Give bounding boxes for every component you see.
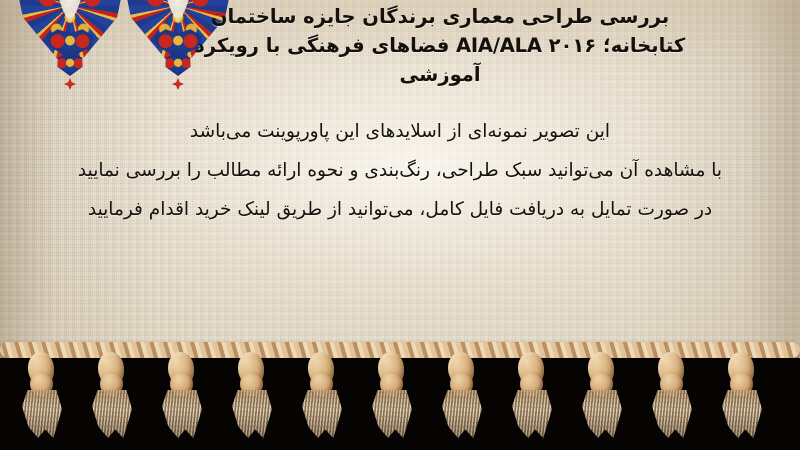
tassel [646, 344, 698, 440]
tassel [296, 344, 348, 440]
slide-title-line-2: کتابخانه؛ ۲۰۱۶ AIA/ALA فضاهای فرهنگی با … [190, 31, 690, 60]
tassel [86, 344, 138, 440]
slide-title-line-1: بررسی طراحی معماری برندگان جایزه ساختمان [190, 2, 690, 31]
tassel [436, 344, 488, 440]
tassel [16, 344, 68, 440]
slide-title: بررسی طراحی معماری برندگان جایزه ساختمان… [190, 2, 690, 89]
text-layer: بررسی طراحی معماری برندگان جایزه ساختمان… [0, 0, 800, 392]
slide-title-line-3: آموزشی [190, 60, 690, 89]
tassel [366, 344, 418, 440]
tassel-fringe [0, 340, 800, 450]
body-line-2: با مشاهده آن می‌توانید سبک طراحی، رنگ‌بن… [40, 151, 760, 190]
slide-body: این تصویر نمونه‌ای از اسلایدهای این پاور… [40, 112, 760, 229]
body-line-1: این تصویر نمونه‌ای از اسلایدهای این پاور… [40, 112, 760, 151]
tassel [716, 344, 768, 440]
tassel [506, 344, 558, 440]
body-line-3: در صورت تمایل به دریافت فایل کامل، می‌تو… [40, 190, 760, 229]
slide-canvas: بررسی طراحی معماری برندگان جایزه ساختمان… [0, 0, 800, 450]
tassel [576, 344, 628, 440]
tassel [226, 344, 278, 440]
tassel [156, 344, 208, 440]
